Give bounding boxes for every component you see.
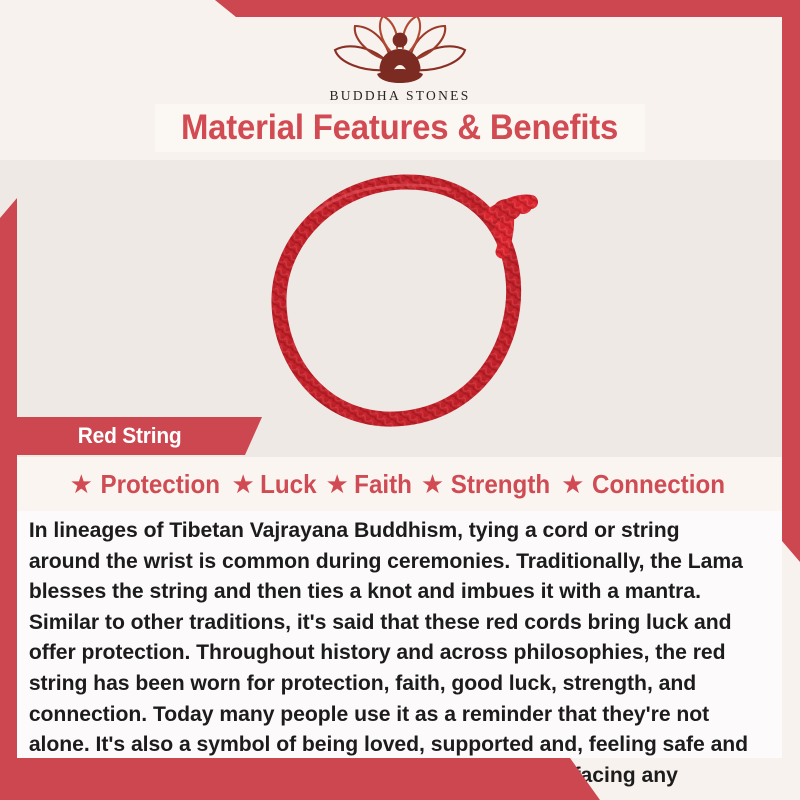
infographic-poster: BUDDHA STONES Material Features & Benefi… — [0, 0, 800, 800]
lotus-meditation-icon — [325, 14, 475, 86]
benefits-list: ★ Protection ★ Luck ★ Faith ★ Strength ★… — [0, 457, 800, 511]
star-icon: ★ — [325, 471, 348, 497]
brand-logo: BUDDHA STONES — [0, 14, 800, 104]
benefit-item-faith: ★ Faith — [325, 469, 413, 500]
benefit-item-connection: ★ Connection — [561, 469, 730, 500]
star-icon: ★ — [70, 471, 93, 497]
benefit-item-protection: ★ Protection — [70, 469, 225, 500]
star-icon: ★ — [231, 471, 254, 497]
star-icon: ★ — [561, 471, 584, 497]
star-icon: ★ — [421, 471, 444, 497]
description-text: In lineages of Tibetan Vajrayana Buddhis… — [17, 511, 771, 800]
frame-band-right — [782, 0, 800, 562]
benefit-label: Faith — [354, 469, 412, 500]
benefit-label: Strength — [451, 469, 550, 500]
page-title-band: Material Features & Benefits — [155, 104, 645, 152]
benefit-item-luck: ★ Luck — [231, 469, 318, 500]
description-panel: In lineages of Tibetan Vajrayana Buddhis… — [17, 511, 782, 758]
benefit-item-strength: ★ Strength — [421, 469, 554, 500]
benefit-label: Protection — [100, 469, 220, 500]
brand-name: BUDDHA STONES — [0, 88, 800, 104]
product-name-ribbon: Red String — [17, 417, 262, 455]
benefit-label: Luck — [260, 469, 316, 500]
benefit-label: Connection — [592, 469, 725, 500]
frame-band-left — [0, 198, 17, 800]
product-image-area — [0, 152, 800, 457]
page-title: Material Features & Benefits — [181, 108, 618, 148]
red-string-bracelet-image — [255, 160, 555, 450]
product-name-label: Red String — [78, 423, 182, 449]
